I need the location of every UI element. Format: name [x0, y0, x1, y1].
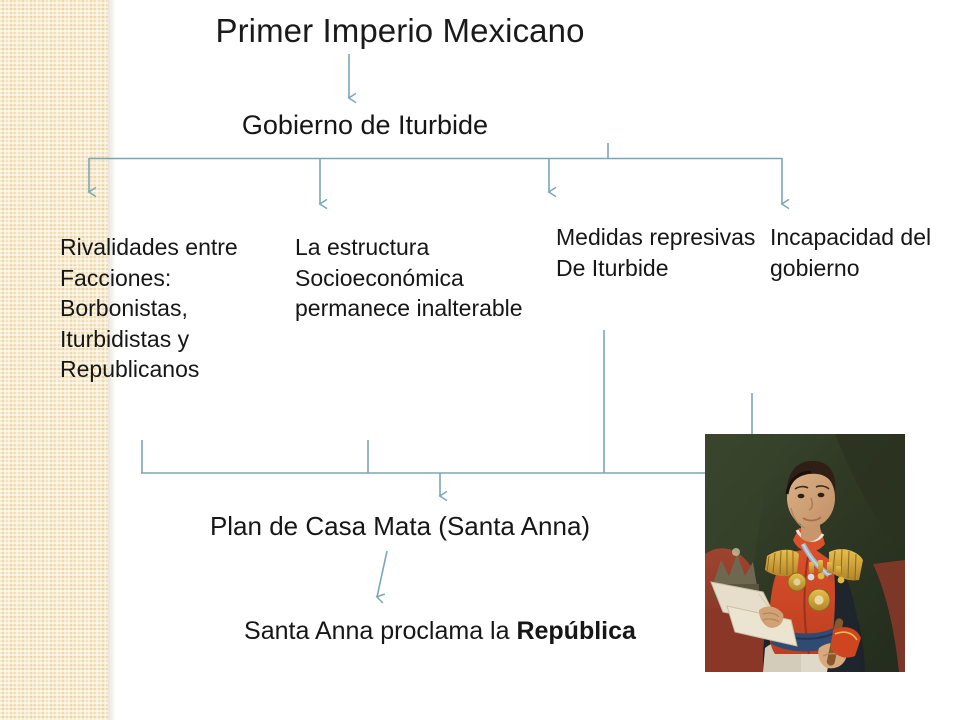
node-medidas-represivas: Medidas represivas De Iturbide: [556, 222, 756, 283]
node-estructura-socioeconomica: La estructura Socioeconómica permanece i…: [295, 232, 523, 324]
santa-anna-portrait: [705, 434, 905, 672]
node-rivalidades-facciones: Rivalidades entre Facciones: Borbonistas…: [60, 232, 292, 385]
node-santa-anna-proclama-republica: Santa Anna proclama la República: [120, 615, 760, 648]
slide-canvas: Primer Imperio Mexicano Gobierno de Itur…: [0, 0, 960, 720]
santa-anna-portrait-illustration: [705, 434, 905, 672]
page-title: Primer Imperio Mexicano: [120, 10, 680, 53]
node-plan-de-casa-mata: Plan de Casa Mata (Santa Anna): [120, 510, 680, 544]
connector-plan-to-republica: [377, 551, 387, 597]
node-incapacidad-del-gobierno: Incapacidad del gobierno: [770, 222, 960, 283]
node-gobierno-de-iturbide: Gobierno de Iturbide: [150, 108, 580, 143]
republica-strong-text: República: [516, 617, 635, 645]
republica-prefix-text: Santa Anna proclama la: [244, 617, 516, 645]
